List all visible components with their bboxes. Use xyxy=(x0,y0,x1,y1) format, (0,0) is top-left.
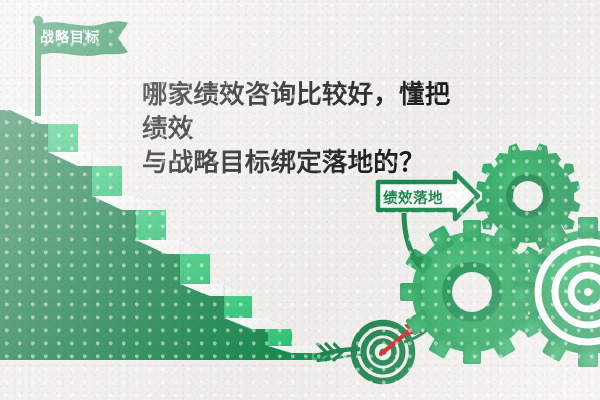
poster-canvas: 战略目标 绩效落地 哪家绩效咨询比较好，懂把绩效 与战略目标绑定落地的？ xyxy=(0,0,600,400)
arrow-banner-label: 绩效落地 xyxy=(383,187,443,208)
arrow-banner-tail xyxy=(404,213,417,262)
flag-label: 战略目标 xyxy=(40,27,100,47)
page-title: 哪家绩效咨询比较好，懂把绩效 与战略目标绑定落地的？ xyxy=(142,78,472,180)
artwork-layer xyxy=(0,0,600,400)
